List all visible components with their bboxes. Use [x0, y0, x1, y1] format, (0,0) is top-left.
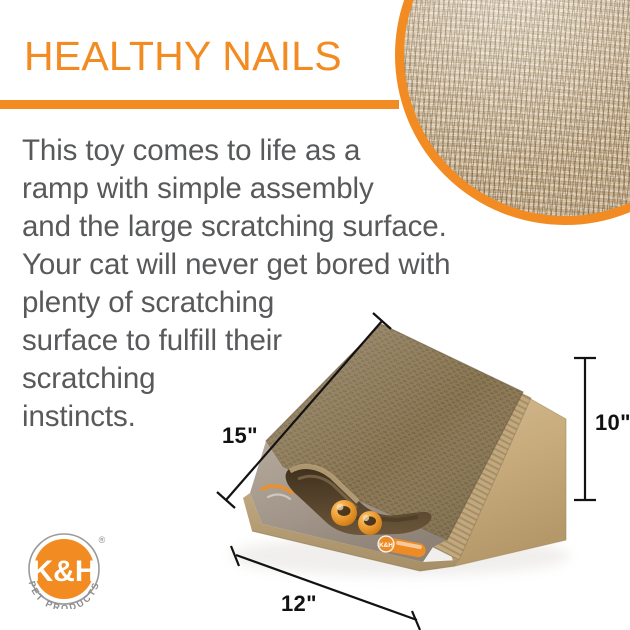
- svg-text:K&H: K&H: [379, 542, 393, 549]
- description-paragraph: This toy comes to life as a ramp with si…: [22, 132, 472, 436]
- product-front-tray-panel: K&H: [250, 441, 447, 562]
- dimension-label-depth: 15": [222, 425, 258, 447]
- page-title: HEALTHY NAILS: [24, 36, 342, 77]
- description-line: surface to fulfill their: [22, 322, 472, 360]
- description-line: scratching: [22, 360, 472, 398]
- product-feature-card: HEALTHY NAILS This toy comes to life as …: [0, 0, 630, 630]
- product-play-balls: [331, 500, 382, 535]
- dimension-label-height: 10": [595, 412, 630, 434]
- product-shadow: [230, 536, 570, 576]
- description-line: Your cat will never get bored with: [22, 246, 472, 284]
- description-line: ramp with simple assembly: [22, 170, 472, 208]
- product-base-lip: [243, 493, 459, 571]
- logo-monogram: K&H: [32, 555, 97, 588]
- title-divider-rule: [0, 100, 399, 109]
- description-line: This toy comes to life as a: [22, 132, 472, 170]
- dimension-label-width: 12": [281, 593, 317, 615]
- brand-logo: K&H ® PET PRODUCTS: [18, 531, 116, 609]
- dimension-line-10: [574, 358, 596, 500]
- dimension-line-12: [231, 546, 420, 630]
- product-orange-accent-stripe: [262, 486, 292, 499]
- description-line: plenty of scratching: [22, 284, 472, 322]
- description-line: and the large scratching surface.: [22, 208, 472, 246]
- product-kh-sticker: K&H: [377, 535, 427, 558]
- registered-trademark-icon: ®: [99, 535, 106, 545]
